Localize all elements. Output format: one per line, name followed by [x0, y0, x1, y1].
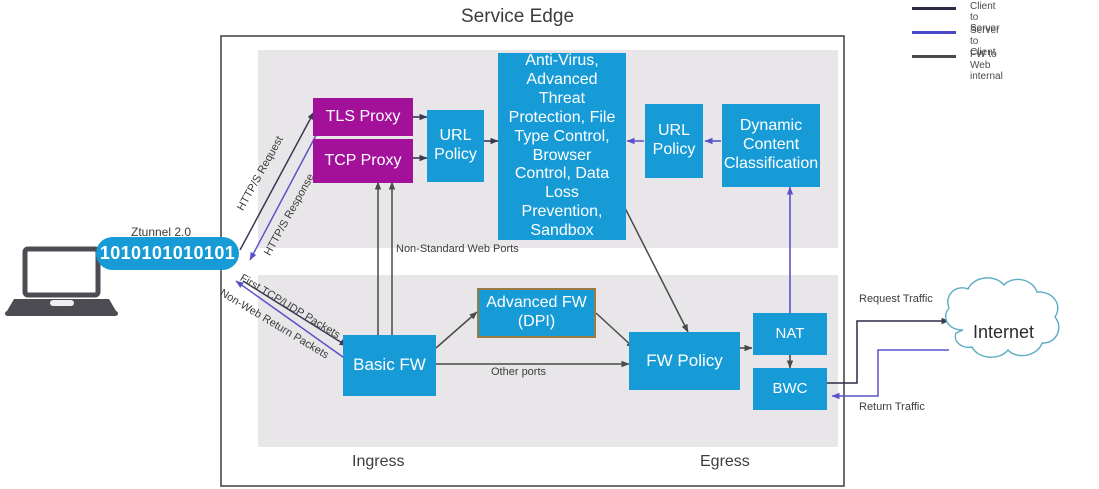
node-bwc[interactable]: BWC: [753, 368, 827, 410]
label-return-traffic: Return Traffic: [859, 401, 925, 413]
section-label-ingress: Ingress: [352, 453, 404, 471]
internet-label: Internet: [973, 322, 1034, 343]
legend-swatch-server-to-client: [912, 31, 956, 34]
label-request-traffic: Request Traffic: [859, 293, 933, 305]
node-security-stack[interactable]: Anti-Virus, Advanced Threat Protection, …: [498, 53, 626, 240]
label-non-standard-web-ports: Non-Standard Web Ports: [396, 243, 519, 255]
legend-swatch-client-to-server: [912, 7, 956, 10]
node-url-policy-ingress[interactable]: URL Policy: [427, 110, 484, 182]
legend: Client to Server Server to Client FW to …: [912, 0, 1099, 66]
ztunnel-payload-pill: 1010101010101: [96, 237, 239, 270]
node-tls-proxy[interactable]: TLS Proxy: [313, 98, 413, 136]
node-tcp-proxy[interactable]: TCP Proxy: [313, 139, 413, 183]
node-fw-policy[interactable]: FW Policy: [629, 332, 740, 390]
node-url-policy-egress[interactable]: URL Policy: [645, 104, 703, 178]
label-other-ports: Other ports: [491, 366, 546, 378]
section-label-egress: Egress: [700, 453, 750, 471]
node-nat[interactable]: NAT: [753, 313, 827, 355]
legend-swatch-fw-to-web-internal: [912, 55, 956, 58]
edge-return-traffic: [832, 350, 949, 396]
edge-request-traffic: [827, 321, 949, 383]
internet-cloud-shape: [946, 278, 1059, 357]
page-title: Service Edge: [461, 6, 574, 28]
diagram-canvas: Service Edge Ztunnel 2.0 1010101010101 H…: [0, 0, 1099, 489]
node-advanced-fw-dpi[interactable]: Advanced FW (DPI): [477, 288, 596, 338]
legend-label-fw-to-web-internal: FW to Web internal: [970, 49, 1003, 82]
node-dynamic-content-classification[interactable]: Dynamic Content Classification: [722, 104, 820, 187]
node-basic-fw[interactable]: Basic FW: [343, 335, 436, 396]
